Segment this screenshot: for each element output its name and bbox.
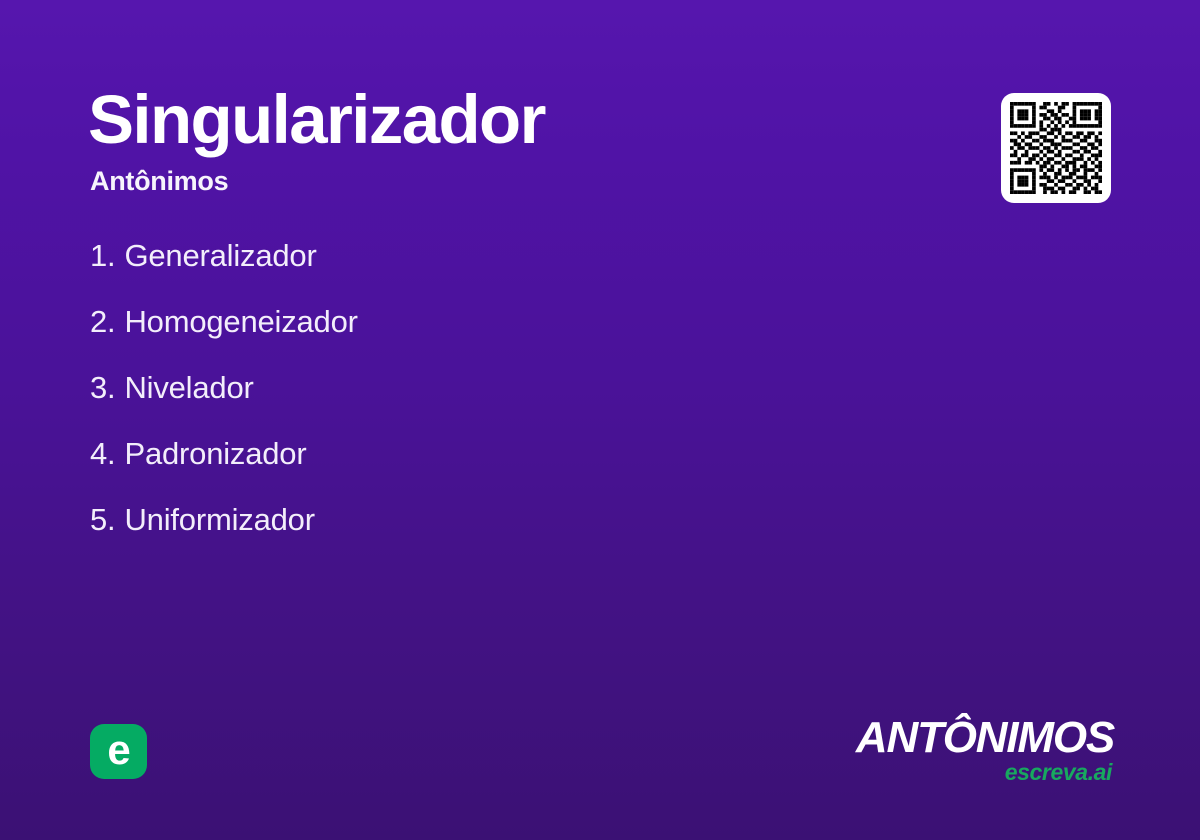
list-item: 2.Homogeneizador — [90, 302, 850, 368]
antonyms-card: Singularizador Antônimos 1.Generalizador… — [0, 0, 1200, 840]
list-item-index: 3. — [90, 368, 115, 408]
qr-code-icon — [1010, 102, 1102, 194]
escreva-logo-icon[interactable]: e — [90, 724, 147, 779]
list-item: 3.Nivelador — [90, 368, 850, 434]
wordmark: ANTÔNIMOS escreva.ai — [856, 718, 1114, 784]
escreva-logo-letter: e — [107, 729, 129, 771]
list-item-label: Nivelador — [124, 368, 253, 408]
list-item-label: Uniformizador — [124, 500, 314, 540]
list-item: 1.Generalizador — [90, 236, 850, 302]
list-item-label: Padronizador — [124, 434, 306, 474]
list-item-label: Homogeneizador — [124, 302, 357, 342]
wordmark-title: ANTÔNIMOS — [856, 718, 1114, 758]
page-subtitle: Antônimos — [90, 168, 228, 195]
list-item: 5.Uniformizador — [90, 500, 850, 566]
antonym-list: 1.Generalizador2.Homogeneizador3.Nivelad… — [90, 236, 850, 566]
wordmark-domain: escreva.ai — [856, 760, 1112, 784]
list-item-index: 2. — [90, 302, 115, 342]
list-item: 4.Padronizador — [90, 434, 850, 500]
qr-code-card[interactable] — [1001, 93, 1111, 203]
page-title: Singularizador — [88, 85, 545, 154]
list-item-label: Generalizador — [124, 236, 316, 276]
list-item-index: 4. — [90, 434, 115, 474]
list-item-index: 1. — [90, 236, 115, 276]
list-item-index: 5. — [90, 500, 115, 540]
